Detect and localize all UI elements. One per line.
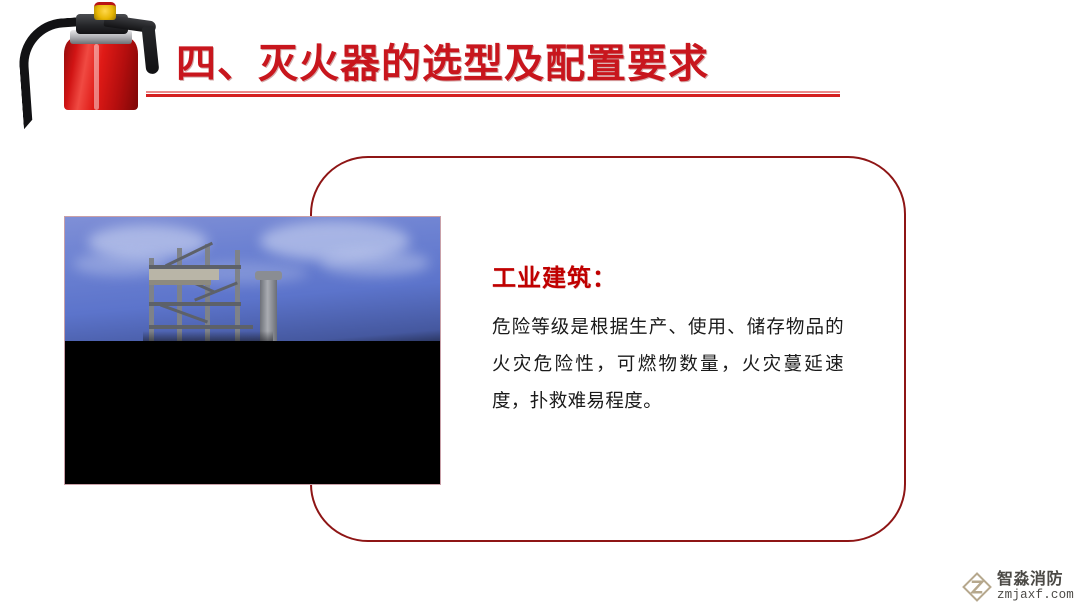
watermark-url: zmjaxf.com [997, 589, 1074, 602]
watermark-brand: 智淼消防 [997, 572, 1074, 589]
content-text-block: 工业建筑： 危险等级是根据生产、使用、储存物品的火灾危险性，可燃物数量，火灾蔓延… [492, 264, 844, 419]
slide-title: 四、灭火器的选型及配置要求 [176, 44, 709, 84]
extinguisher-handle-grip [142, 25, 160, 74]
title-underline-highlight [146, 91, 840, 93]
watermark-text: 智淼消防 zmjaxf.com [997, 572, 1074, 602]
photo-dark-band [65, 341, 440, 484]
watermark: 智淼消防 zmjaxf.com [962, 572, 1074, 602]
section-paragraph: 危险等级是根据生产、使用、储存物品的火灾危险性，可燃物数量，火灾蔓延速度，扑救难… [492, 308, 844, 419]
extinguisher-pressure-gauge [94, 2, 116, 20]
steel-structure-silhouette [143, 244, 273, 348]
section-subheading: 工业建筑： [492, 264, 844, 294]
slide-canvas: 四、灭火器的选型及配置要求 [0, 0, 1080, 608]
industrial-building-photo [64, 216, 441, 485]
brand-logo-icon [962, 572, 992, 602]
photo-cloud [320, 250, 430, 276]
process-column-platform [255, 271, 282, 280]
extinguisher-cylinder [64, 38, 138, 110]
title-underline [146, 94, 840, 97]
